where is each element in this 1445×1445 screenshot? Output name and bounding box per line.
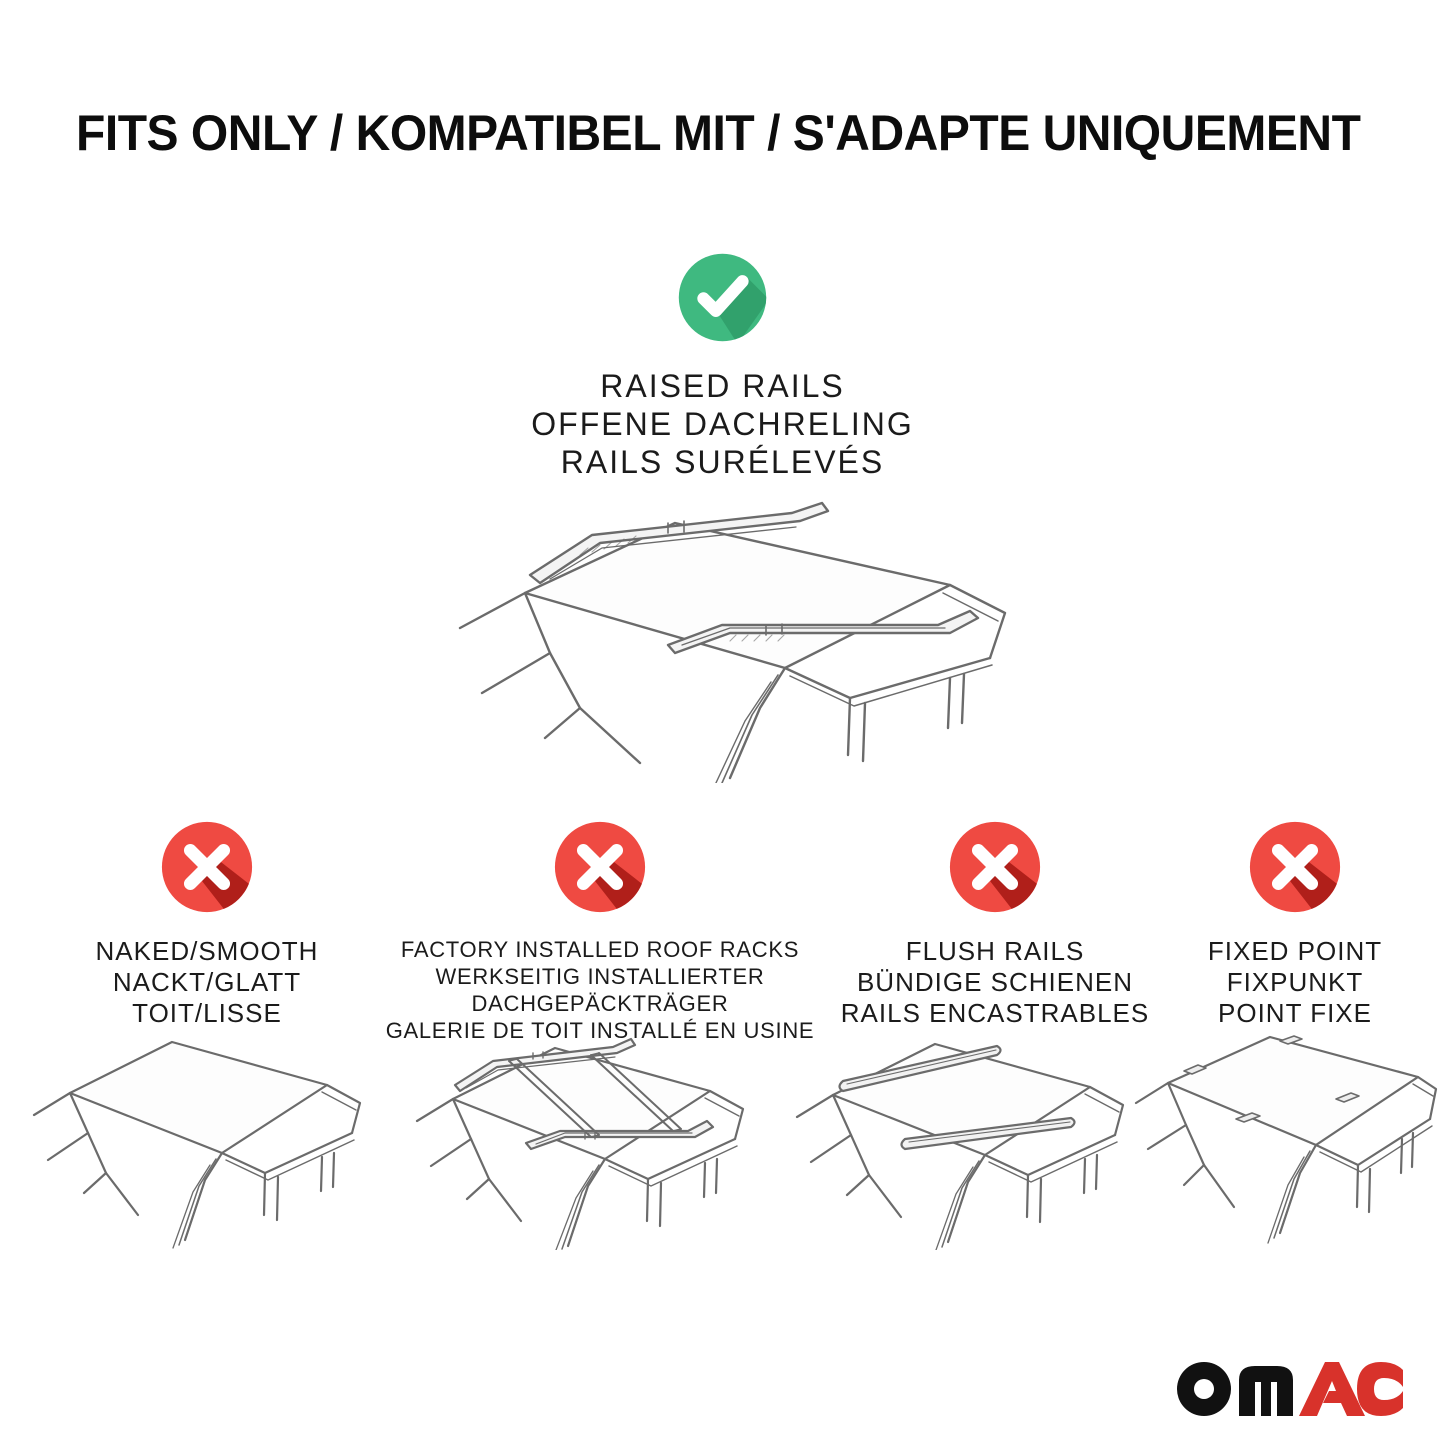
label-line: FIXED POINT [1165, 936, 1425, 967]
label-line: WERKSEITIG INSTALLIERTER [375, 963, 825, 990]
cross-circle-icon [946, 818, 1044, 916]
page-title: FITS ONLY / KOMPATIBEL MIT / S'ADAPTE UN… [76, 104, 1324, 162]
compatible-label-fr: RAILS SURÉLEVÉS [0, 443, 1445, 481]
incompatible-column-factory-roof-racks: FACTORY INSTALLED ROOF RACKS WERKSEITIG … [375, 818, 825, 1044]
compatible-labels: RAISED RAILS OFFENE DACHRELING RAILS SUR… [0, 367, 1445, 481]
compatible-label-en: RAISED RAILS [0, 367, 1445, 405]
logo-letter-c [1357, 1362, 1403, 1416]
check-circle-icon [675, 250, 770, 345]
incompatible-column-flush-rails: FLUSH RAILS BÜNDIGE SCHIENEN RAILS ENCAS… [820, 818, 1170, 1029]
car-roof-factory-roof-racks-illustration [405, 1015, 755, 1250]
cross-circle-icon [158, 818, 256, 916]
incompatible-column-fixed-point: FIXED POINT FIXPUNKT POINT FIXE [1165, 818, 1425, 1029]
cross-circle-icon [1246, 818, 1344, 916]
label-line: DACHGEPÄCKTRÄGER [375, 990, 825, 1017]
label-line: NAKED/SMOOTH [57, 936, 357, 967]
label-line: FLUSH RAILS [820, 936, 1170, 967]
cross-badge-wrap-3 [820, 818, 1170, 928]
label-line: FIXPUNKT [1165, 967, 1425, 998]
logo-letter-a [1299, 1362, 1365, 1416]
label-line: FACTORY INSTALLED ROOF RACKS [375, 936, 825, 963]
compatible-section: RAISED RAILS OFFENE DACHRELING RAILS SUR… [0, 250, 1445, 481]
car-roof-raised-rails-illustration [430, 493, 1030, 783]
cross-badge-wrap-2 [375, 818, 825, 928]
cross-circle-icon [551, 818, 649, 916]
label-line: NACKT/GLATT [57, 967, 357, 998]
incompatible-column-naked-smooth: NAKED/SMOOTH NACKT/GLATT TOIT/LISSE [57, 818, 357, 1029]
logo-letter-o [1177, 1362, 1231, 1416]
cross-badge-wrap-1 [57, 818, 357, 928]
car-roof-flush-rails-illustration [785, 1015, 1135, 1250]
label-line: BÜNDIGE SCHIENEN [820, 967, 1170, 998]
compatible-label-de: OFFENE DACHRELING [0, 405, 1445, 443]
car-roof-naked-smooth-illustration [22, 1015, 372, 1250]
car-roof-fixed-point-illustration [1130, 1015, 1440, 1250]
infographic-page: FITS ONLY / KOMPATIBEL MIT / S'ADAPTE UN… [0, 0, 1445, 1445]
cross-badge-wrap-4 [1165, 818, 1425, 928]
omac-logo [1173, 1358, 1403, 1420]
logo-letter-m [1239, 1366, 1293, 1416]
